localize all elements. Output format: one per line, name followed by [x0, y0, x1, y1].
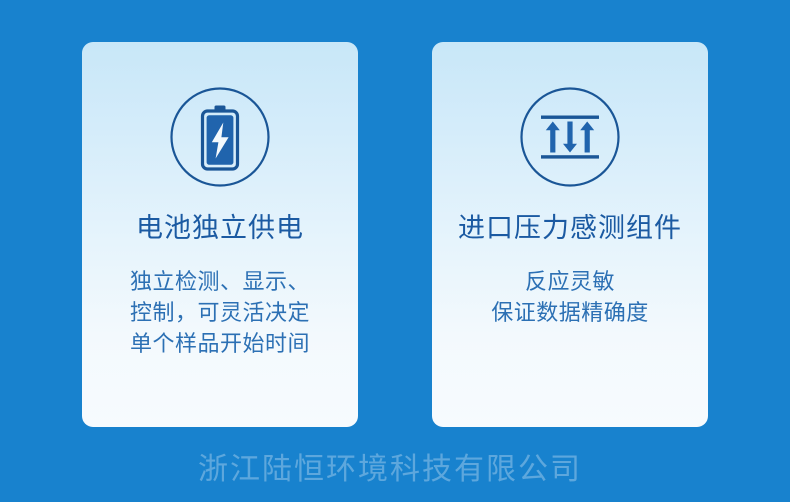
card-body: 反应灵敏 保证数据精确度 — [491, 266, 649, 328]
company-watermark: 浙江陆恒环境科技有限公司 — [0, 444, 790, 488]
card-body: 独立检测、显示、 控制，可灵活决定 单个样品开始时间 — [130, 266, 310, 359]
feature-card-pressure: 进口压力感测组件 反应灵敏 保证数据精确度 — [432, 42, 708, 427]
card-body-line: 反应灵敏 — [491, 266, 649, 297]
card-title: 进口压力感测组件 — [458, 214, 682, 244]
card-body-line: 保证数据精确度 — [491, 297, 649, 328]
battery-charging-icon — [169, 86, 271, 188]
card-title: 电池独立供电 — [136, 214, 304, 244]
feature-banner: 电池独立供电 独立检测、显示、 控制，可灵活决定 单个样品开始时间 进口压力感测… — [0, 0, 790, 502]
card-body-line: 独立检测、显示、 — [130, 266, 310, 297]
feature-card-battery: 电池独立供电 独立检测、显示、 控制，可灵活决定 单个样品开始时间 — [82, 42, 358, 427]
card-body-line: 单个样品开始时间 — [130, 328, 310, 359]
pressure-arrows-icon — [519, 86, 621, 188]
card-body-line: 控制，可灵活决定 — [130, 297, 310, 328]
